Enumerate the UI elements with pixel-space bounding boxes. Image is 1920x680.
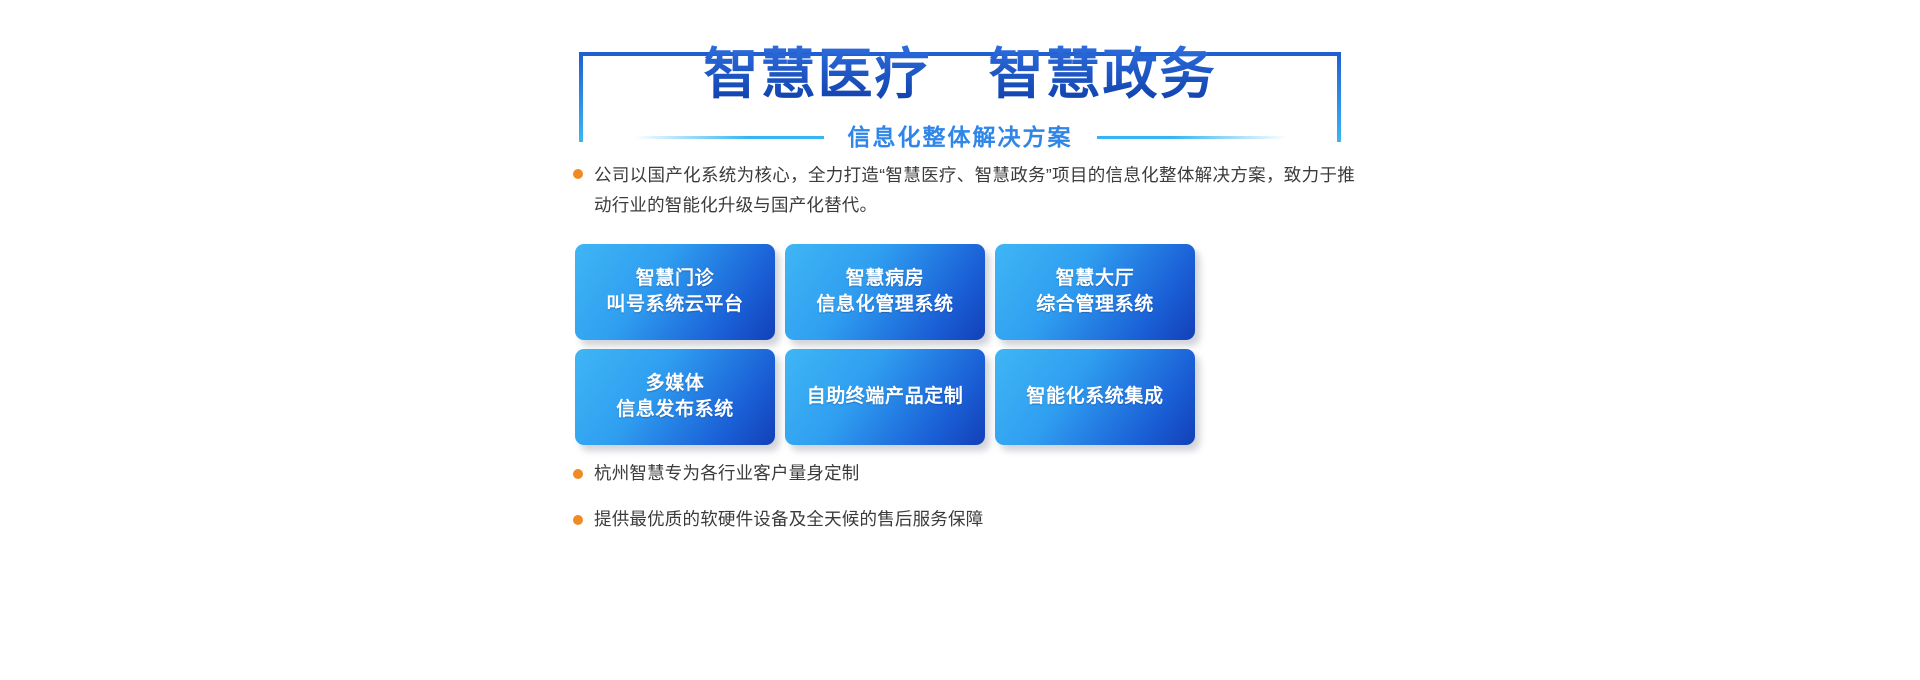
bullet-dot-icon [573, 469, 583, 479]
solution-card[interactable]: 智慧大厅 综合管理系统 [995, 244, 1195, 340]
card-label: 多媒体 信息发布系统 [616, 371, 734, 423]
card-label: 智慧大厅 综合管理系统 [1036, 266, 1154, 318]
page-subtitle: 信息化整体解决方案 [838, 122, 1083, 152]
subtitle-rule-right [1097, 136, 1287, 139]
feature-bullet-list: 杭州智慧专为各行业客户量身定制 提供最优质的软硬件设备及全天候的售后服务保障 [573, 460, 1355, 552]
bullet-text: 杭州智慧专为各行业客户量身定制 [594, 460, 860, 486]
bullet-text: 提供最优质的软硬件设备及全天候的售后服务保障 [594, 506, 983, 532]
card-label: 智慧病房 信息化管理系统 [816, 266, 953, 318]
list-item: 杭州智慧专为各行业客户量身定制 [573, 460, 1355, 486]
solution-card-grid: 智慧门诊 叫号系统云平台 智慧病房 信息化管理系统 智慧大厅 综合管理系统 多媒… [575, 244, 1195, 445]
intro-text: 公司以国产化系统为核心，全力打造“智慧医疗、智慧政务”项目的信息化整体解决方案，… [594, 160, 1355, 220]
card-label: 智能化系统集成 [1026, 384, 1163, 410]
solution-card[interactable]: 自助终端产品定制 [785, 349, 985, 445]
solution-card[interactable]: 智慧门诊 叫号系统云平台 [575, 244, 775, 340]
bullet-dot-icon [573, 169, 583, 179]
page-title: 智慧医疗 智慧政务 [565, 42, 1355, 106]
title-block: 智慧医疗 智慧政务 信息化整体解决方案 [565, 26, 1355, 138]
bullet-dot-icon [573, 515, 583, 525]
solution-card[interactable]: 智慧病房 信息化管理系统 [785, 244, 985, 340]
card-label: 自助终端产品定制 [807, 384, 964, 410]
card-label: 智慧门诊 叫号系统云平台 [606, 266, 743, 318]
solution-card[interactable]: 多媒体 信息发布系统 [575, 349, 775, 445]
list-item: 提供最优质的软硬件设备及全天候的售后服务保障 [573, 506, 1355, 532]
banner-content: 智慧医疗 智慧政务 信息化整体解决方案 公司以国产化系统为核心，全力打造“智慧医… [565, 0, 1355, 680]
subtitle-row: 信息化整体解决方案 [565, 122, 1355, 152]
subtitle-rule-left [634, 136, 824, 139]
intro-paragraph: 公司以国产化系统为核心，全力打造“智慧医疗、智慧政务”项目的信息化整体解决方案，… [573, 160, 1355, 220]
solution-card[interactable]: 智能化系统集成 [995, 349, 1195, 445]
banner-stage: 智慧医疗 智慧政务 信息化整体解决方案 公司以国产化系统为核心，全力打造“智慧医… [0, 0, 1920, 680]
